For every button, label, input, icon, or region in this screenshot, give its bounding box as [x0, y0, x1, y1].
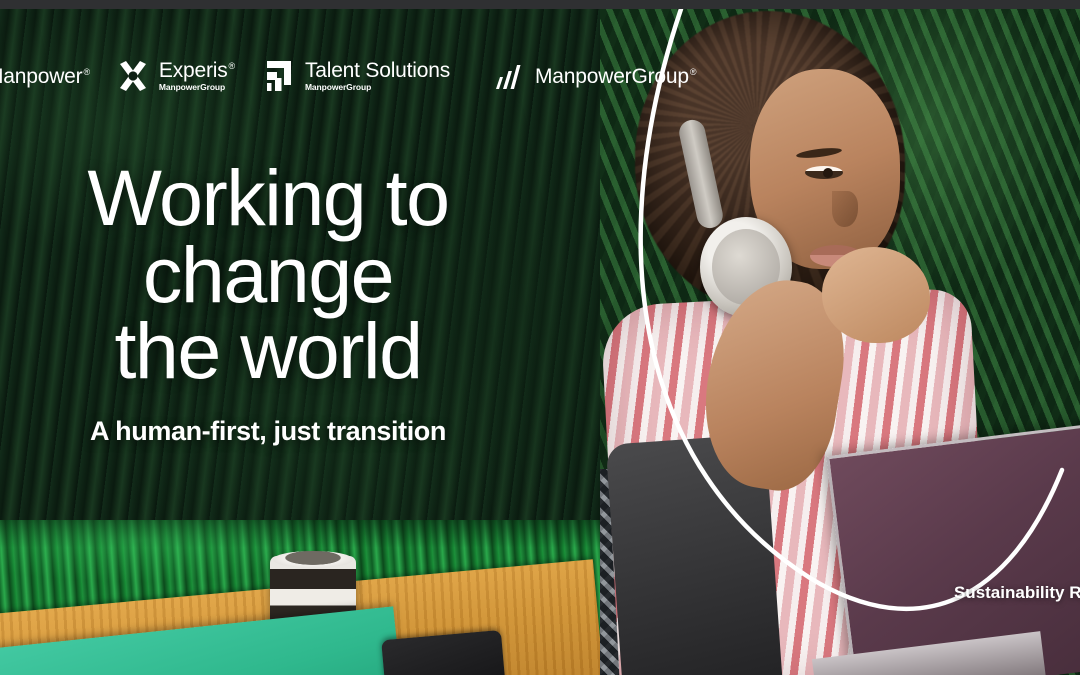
subject-pupil: [823, 168, 833, 178]
caption-title: Sustainability Report: [954, 582, 1080, 604]
manpowergroup-bars-icon: [491, 61, 525, 91]
report-caption: 2023 Sustainability Report: [954, 560, 1080, 605]
subject-hand: [822, 247, 930, 343]
logo-talent-solutions-wordmark: Talent Solutions: [305, 60, 451, 81]
logo-manpower-wordmark: Manpower®: [0, 66, 90, 87]
logo-talent-solutions[interactable]: Talent Solutions ManpowerGroup: [263, 54, 451, 98]
headline-line-2: change: [18, 237, 518, 314]
registered-mark: ®: [690, 67, 696, 77]
experis-x-icon: [116, 59, 150, 93]
logo-manpower[interactable]: Manpower®: [0, 54, 90, 98]
headline-line-3: the world: [18, 313, 518, 390]
headline-line-1: Working to: [18, 160, 518, 237]
logo-manpowergroup[interactable]: ManpowerGroup®: [491, 54, 696, 98]
hero-text-block: Working to change the world A human-firs…: [18, 160, 518, 447]
caption-year: 2023: [954, 560, 1080, 582]
talent-solutions-bars-icon: [263, 59, 295, 93]
subject-nose: [832, 191, 858, 227]
logo-manpowergroup-wordmark: ManpowerGroup®: [535, 66, 696, 87]
window-top-bar: [0, 0, 1080, 9]
laptop-lid: [826, 423, 1080, 675]
logo-talent-solutions-endorsement: ManpowerGroup: [305, 83, 451, 92]
logo-experis-wordmark: Experis®: [159, 60, 235, 81]
brand-logo-bar: Manpower® Experis® ManpowerGroup: [0, 52, 660, 100]
logo-experis-endorsement: ManpowerGroup: [159, 83, 235, 92]
registered-mark: ®: [83, 67, 89, 77]
presentation-slide: Manpower® Experis® ManpowerGroup: [0, 0, 1080, 675]
logo-experis[interactable]: Experis® ManpowerGroup: [116, 54, 235, 98]
hero-subheadline: A human-first, just transition: [18, 416, 518, 447]
registered-mark: ®: [229, 61, 235, 71]
